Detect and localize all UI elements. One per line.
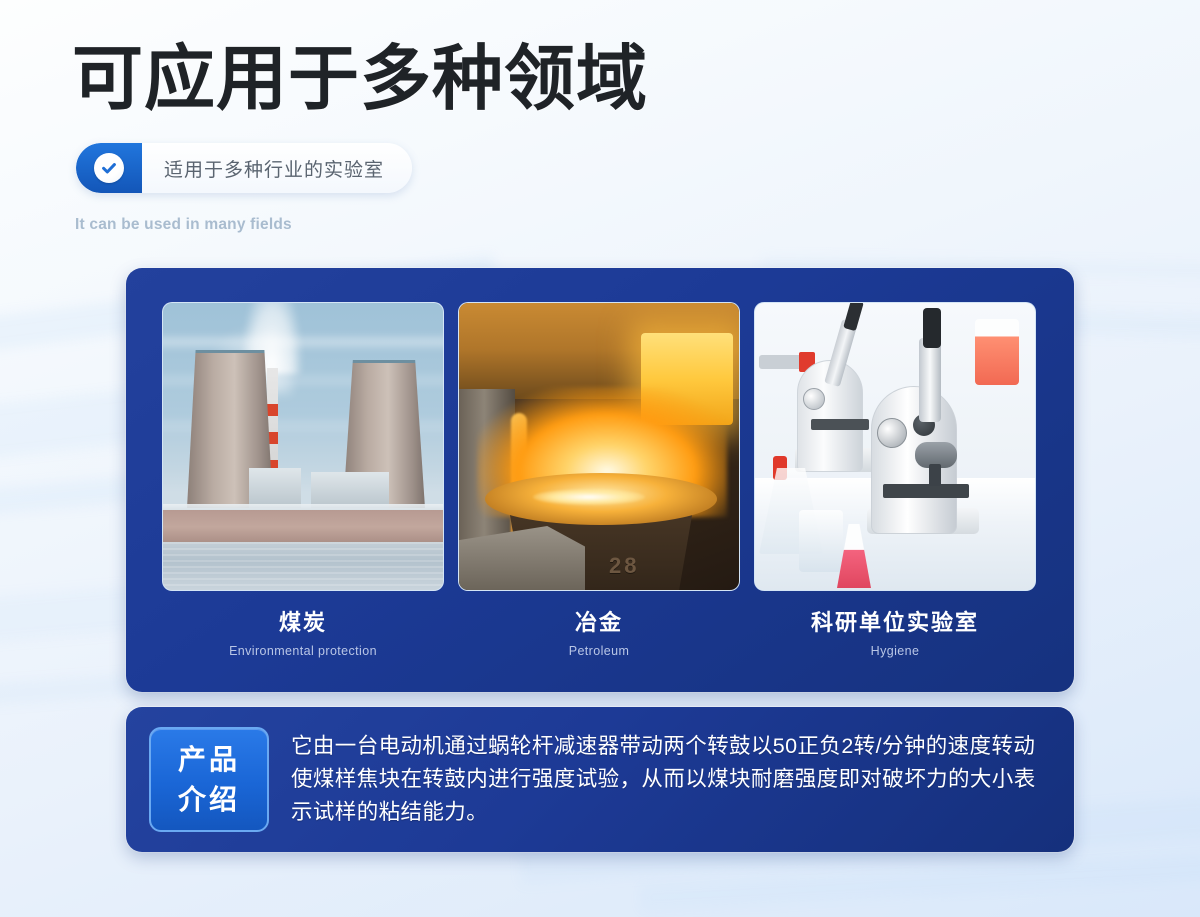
laboratory-microscopes-photo	[754, 302, 1036, 591]
gallery-tile-laboratory[interactable]: 科研单位实验室 Hygiene	[754, 302, 1036, 658]
page-root: 可应用于多种领域 适用于多种行业的实验室 It can be used in m…	[0, 0, 1200, 917]
tile-caption-cn: 科研单位实验室	[754, 605, 1036, 637]
tile-caption-en: Hygiene	[754, 644, 1036, 658]
ladle-number: 28	[609, 553, 639, 579]
page-title: 可应用于多种领域	[72, 43, 648, 114]
description-panel: 产品 介绍 它由一台电动机通过蜗轮杆减速器带动两个转鼓以50正负2转/分钟的速度…	[126, 707, 1074, 852]
subtitle-english: It can be used in many fields	[75, 216, 292, 234]
product-intro-tag: 产品 介绍	[149, 727, 269, 832]
power-plant-cooling-towers-photo	[162, 302, 444, 591]
gallery-tile-coal[interactable]: 煤炭 Environmental protection	[162, 302, 444, 658]
gallery-tile-metallurgy[interactable]: 28 冶金 Petroleum	[458, 302, 740, 658]
tile-caption-en: Environmental protection	[162, 644, 444, 658]
badge-label: 适用于多种行业的实验室	[164, 155, 384, 182]
molten-metal-ladle-photo: 28	[458, 302, 740, 591]
check-circle-icon	[94, 153, 124, 183]
description-text: 它由一台电动机通过蜗轮杆减速器带动两个转鼓以50正负2转/分钟的速度转动使煤样焦…	[291, 730, 1050, 828]
gallery-tiles: 煤炭 Environmental protection 28	[162, 302, 1038, 658]
tile-caption-en: Petroleum	[458, 644, 740, 658]
product-intro-tag-line2: 介绍	[178, 780, 240, 820]
badge-icon-container	[76, 143, 142, 193]
subtitle-badge: 适用于多种行业的实验室	[76, 143, 412, 193]
gallery-card: 煤炭 Environmental protection 28	[126, 268, 1074, 692]
tile-caption-cn: 煤炭	[162, 605, 444, 637]
product-intro-tag-line1: 产品	[178, 740, 240, 780]
tile-caption-cn: 冶金	[458, 605, 740, 637]
